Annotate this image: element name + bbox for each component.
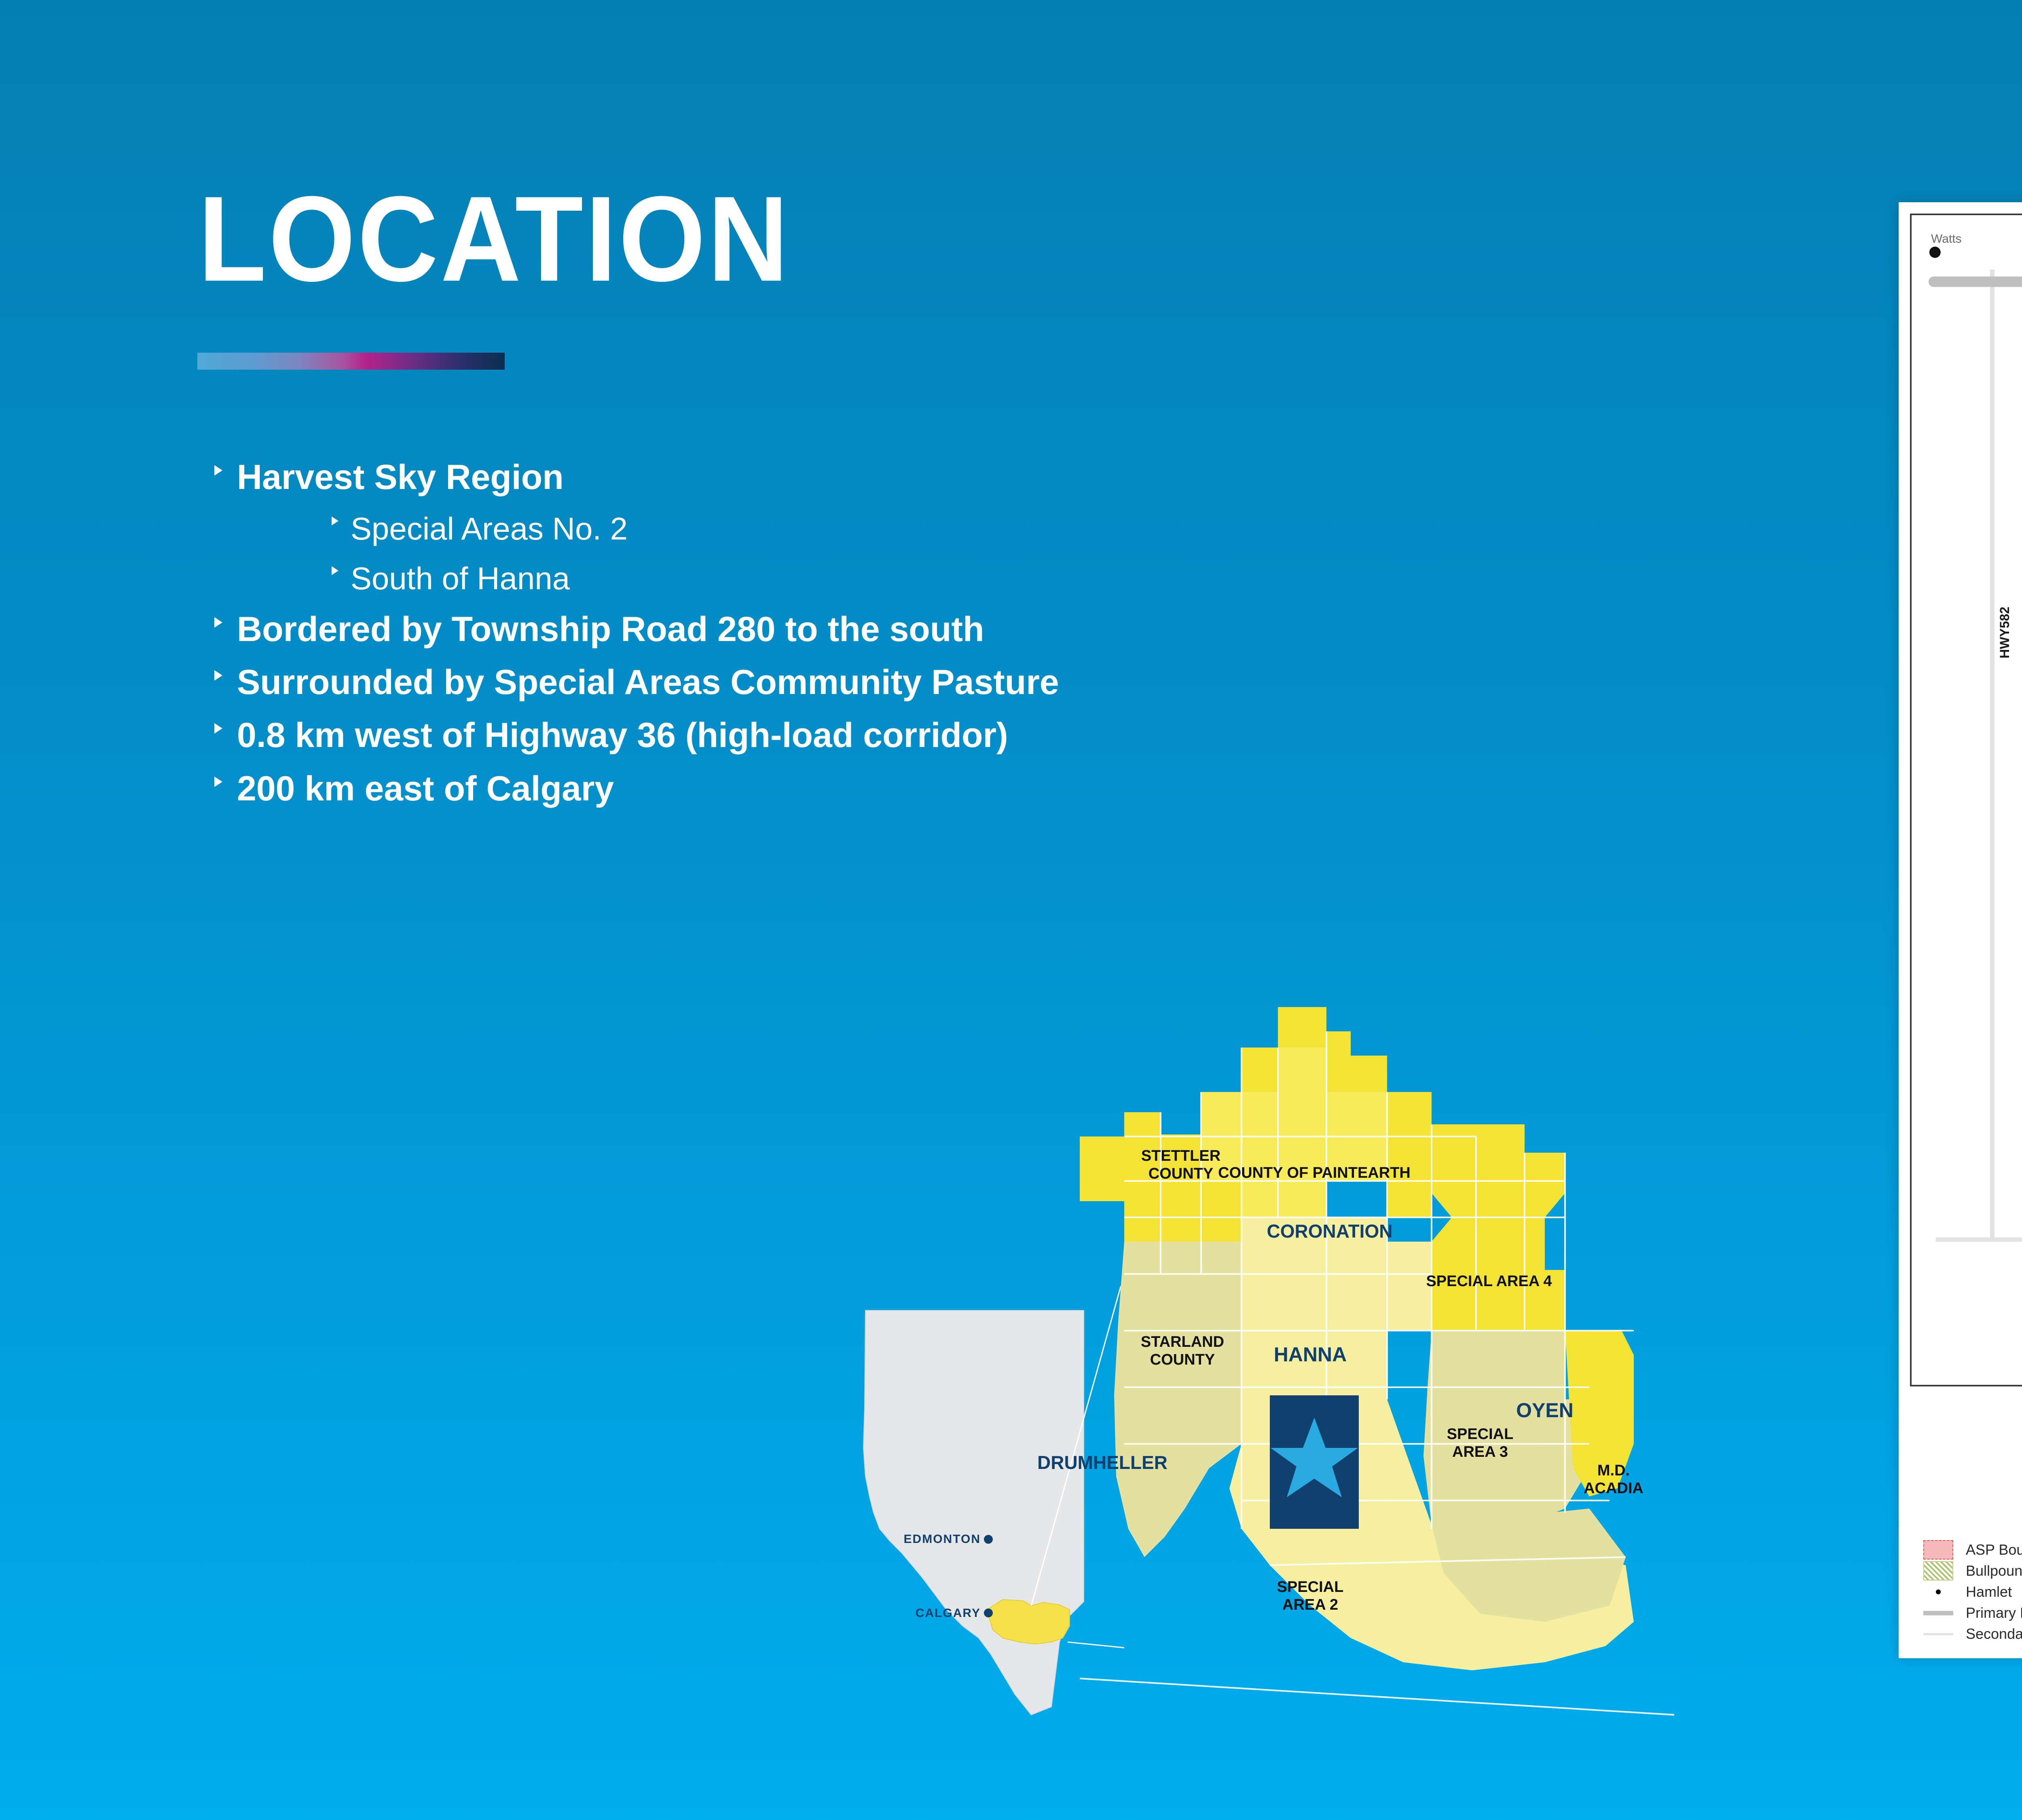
- title-accent-bar: [197, 353, 505, 370]
- hamlet-dot-icon: [1921, 1589, 1955, 1594]
- bullet-triangle-icon: [214, 777, 222, 787]
- list-item: Bordered by Township Road 280 to the sou…: [214, 609, 1508, 650]
- list-item-label: 200 km east of Calgary: [237, 768, 614, 809]
- map-label-special-area-3: SPECIAL: [1447, 1426, 1514, 1443]
- list-item-label: South of Hanna: [351, 560, 570, 597]
- legend-label: Primary Highway: [1966, 1604, 2022, 1621]
- legend-item-asp-boundary: ASP Boundary: [1921, 1539, 2022, 1560]
- hamlet-dot-watts: [1929, 247, 1941, 258]
- legend-label: Bullpound Community Pasture: [1966, 1562, 2022, 1579]
- map-legend: ASP Boundary Bullpound Community Pasture…: [1921, 1539, 2022, 1644]
- list-item-label: Special Areas No. 2: [351, 510, 628, 547]
- starland-county-region: [1114, 1242, 1242, 1557]
- list-item-label: Surrounded by Special Areas Community Pa…: [237, 662, 1059, 703]
- bullet-triangle-icon: [214, 670, 222, 681]
- list-item: Special Areas No. 2: [332, 510, 1508, 547]
- alberta-outline: [863, 1310, 1084, 1715]
- map-label-coronation: CORONATION: [1267, 1221, 1393, 1242]
- map-label-special-area-2: SPECIAL: [1277, 1579, 1344, 1596]
- map-label-special-area-4: SPECIAL AREA 4: [1426, 1273, 1552, 1290]
- city-dot-edmonton: [984, 1535, 993, 1544]
- regional-context-panel: Watts Hanna Richdale Stanmore Sheerness …: [1899, 202, 2022, 1658]
- primary-highways: [1934, 239, 2022, 1385]
- list-item-label: 0.8 km west of Highway 36 (high-load cor…: [237, 715, 1008, 756]
- city-dot-calgary: [984, 1608, 993, 1617]
- bullet-triangle-icon: [214, 723, 222, 734]
- map-label-starland-county-2: COUNTY: [1150, 1351, 1215, 1368]
- page-title: LOCATION: [198, 178, 791, 299]
- legend-label: ASP Boundary: [1966, 1541, 2022, 1558]
- bullet-triangle-icon: [332, 516, 338, 525]
- map-label-county-of-paintearth: COUNTY OF PAINTEARTH: [1218, 1164, 1411, 1181]
- list-item: Surrounded by Special Areas Community Pa…: [214, 662, 1508, 703]
- legend-label: Hamlet: [1966, 1583, 2012, 1600]
- bullet-triangle-icon: [214, 617, 222, 628]
- map-label-special-area-2-2: AREA 2: [1282, 1596, 1338, 1613]
- harvest-sky-region-map: .lblD { font-family:"Liberation Sans", s…: [1068, 991, 1820, 1780]
- list-item: Harvest Sky Region: [214, 457, 1508, 498]
- map-label-starland-county: STARLAND: [1141, 1333, 1224, 1350]
- map-label-stettler-county: STETTLER: [1141, 1147, 1220, 1164]
- list-item-label: Bordered by Township Road 280 to the sou…: [237, 609, 984, 650]
- legend-label: Secondary Highway: [1966, 1625, 2022, 1642]
- asp-boundary-swatch-icon: [1921, 1540, 1955, 1560]
- map-label-stettler-county-2: COUNTY: [1148, 1165, 1213, 1182]
- map-label-drumheller: DRUMHELLER: [1037, 1452, 1168, 1473]
- bullet-triangle-icon: [214, 465, 222, 476]
- pasture-swatch-icon: [1921, 1561, 1955, 1581]
- map-label-hanna: HANNA: [1274, 1343, 1347, 1366]
- city-label-calgary: CALGARY: [916, 1606, 981, 1620]
- list-item: 0.8 km west of Highway 36 (high-load cor…: [214, 715, 1508, 756]
- map-label-md-acadia: M.D.: [1597, 1462, 1630, 1479]
- legend-item-primary-highway: Primary Highway: [1921, 1602, 2022, 1623]
- secondary-highways: [1936, 235, 2022, 1240]
- map-label-special-area-3-2: AREA 3: [1452, 1443, 1508, 1460]
- map-label-oyen: OYEN: [1516, 1399, 1574, 1422]
- bullet-triangle-icon: [332, 566, 338, 575]
- secondary-highway-line-icon: [1921, 1633, 1955, 1635]
- bullet-list: Harvest Sky Region Special Areas No. 2 S…: [214, 457, 1508, 821]
- city-label-edmonton: EDMONTON: [904, 1532, 981, 1546]
- highway-label-hwy582: HWY582: [1997, 605, 2012, 660]
- list-item: 200 km east of Calgary: [214, 768, 1508, 809]
- legend-item-secondary-highway: Secondary Highway: [1921, 1623, 2022, 1644]
- primary-highway-line-icon: [1921, 1611, 1955, 1615]
- list-item-label: Harvest Sky Region: [237, 457, 564, 498]
- legend-item-hamlet: Hamlet: [1921, 1581, 2022, 1602]
- legend-item-pasture: Bullpound Community Pasture: [1921, 1560, 2022, 1581]
- special-area-4-region: [1432, 1124, 1565, 1331]
- map-label-md-acadia-2: ACADIA: [1584, 1480, 1643, 1497]
- regional-map-frame: Watts Hanna Richdale Stanmore Sheerness …: [1910, 214, 2022, 1386]
- list-item: South of Hanna: [332, 560, 1508, 597]
